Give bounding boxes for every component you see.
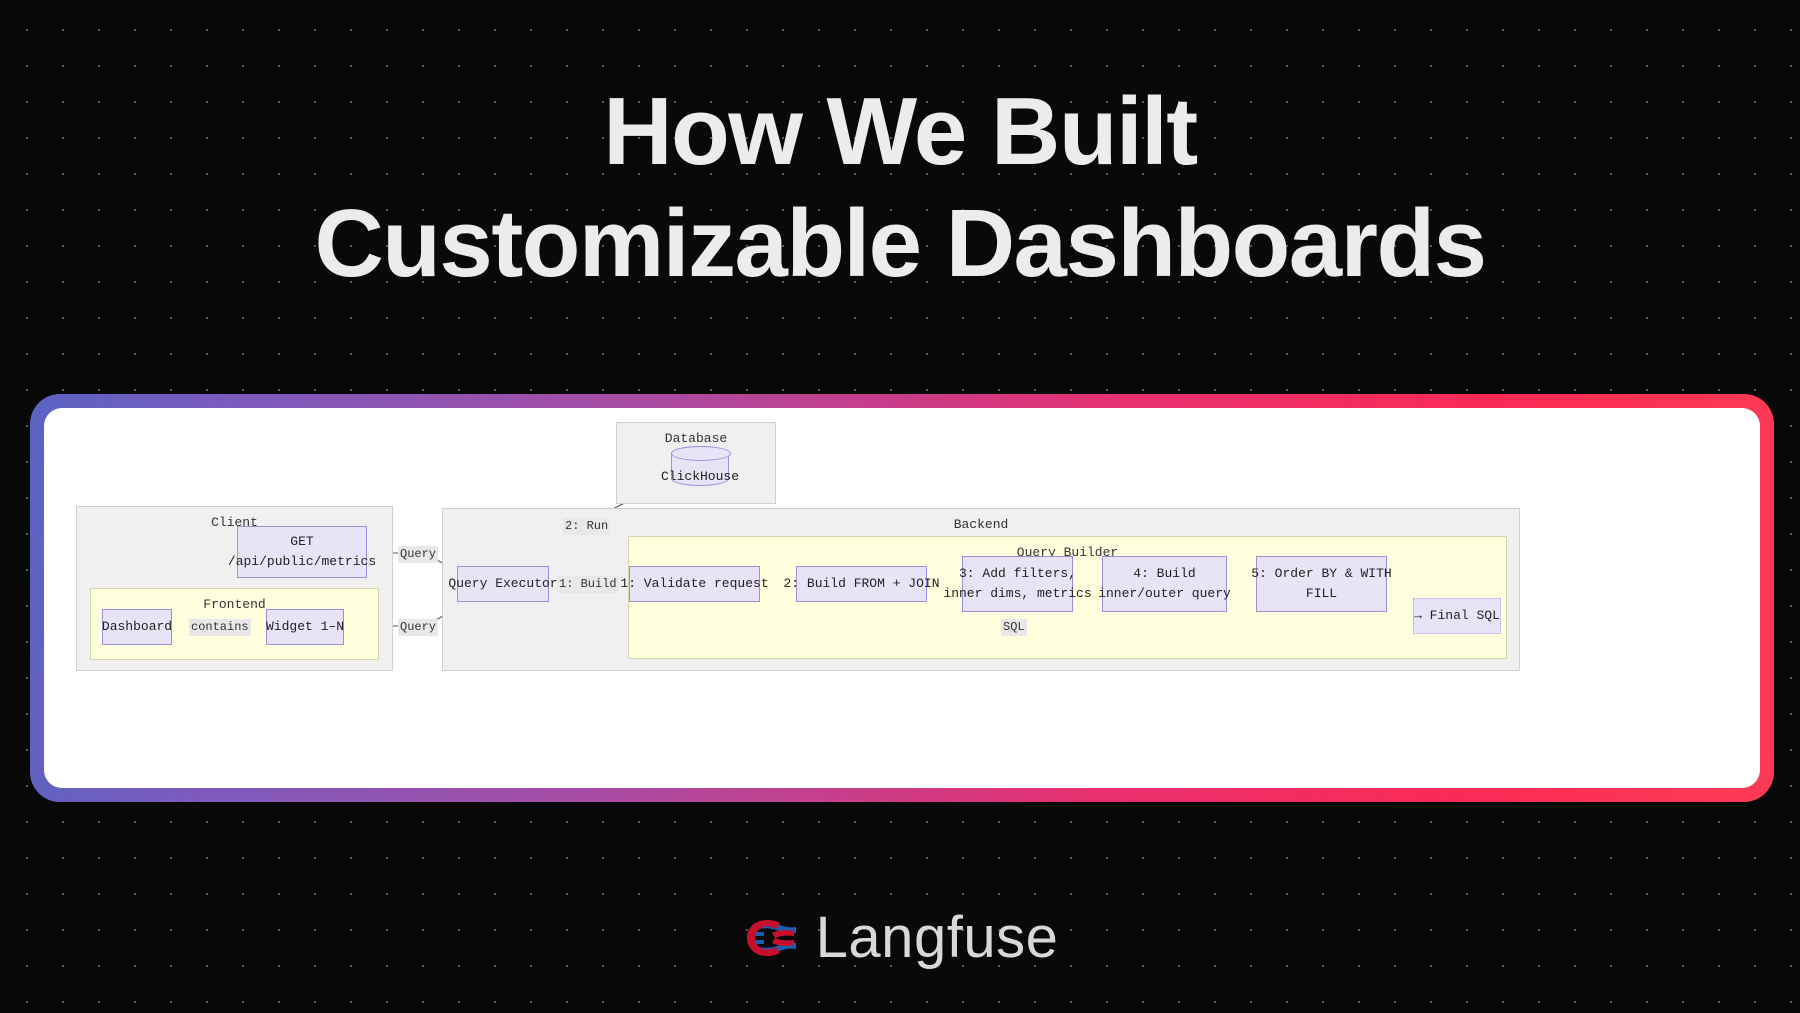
node-get-metrics-line-2: /api/public/metrics xyxy=(228,552,376,572)
node-get-metrics[interactable]: GET /api/public/metrics xyxy=(237,526,367,578)
node-step-4-line-1: 4: Build xyxy=(1133,564,1195,584)
diagram-card-gradient-frame: Client Frontend Database Backend Query B… xyxy=(30,394,1774,802)
node-get-metrics-line-1: GET xyxy=(290,532,313,552)
node-step-2-label: 2: Build FROM + JOIN xyxy=(783,574,939,594)
node-final-sql[interactable]: → Final SQL xyxy=(1413,598,1501,634)
node-step-2-build-from-join[interactable]: 2: Build FROM + JOIN xyxy=(796,566,927,602)
page-title-line-2: Customizable Dashboards xyxy=(0,188,1800,300)
node-step-5-order-by-with-fill[interactable]: 5: Order BY & WITH FILL xyxy=(1256,556,1387,612)
node-step-3-line-2: inner dims, metrics xyxy=(943,584,1091,604)
node-dashboard-label: Dashboard xyxy=(102,617,172,637)
page-title-line-1: How We Built xyxy=(0,76,1800,188)
edge-label-contains: contains xyxy=(189,619,251,636)
node-step-3-line-1: 3: Add filters, xyxy=(959,564,1076,584)
node-query-executor-label: Query Executor xyxy=(448,574,557,594)
page-title: How We Built Customizable Dashboards xyxy=(0,76,1800,300)
node-step-4-line-2: inner/outer query xyxy=(1098,584,1231,604)
footer-branding: Langfuse xyxy=(0,908,1800,968)
brand-name: Langfuse xyxy=(816,908,1059,968)
group-database-label: Database xyxy=(617,431,775,446)
diagram-card: Client Frontend Database Backend Query B… xyxy=(44,408,1760,788)
node-step-3-add-filters[interactable]: 3: Add filters, inner dims, metrics xyxy=(962,556,1073,612)
node-step-1-label: 1: Validate request xyxy=(620,574,768,594)
node-step-5-line-1: 5: Order BY & WITH xyxy=(1251,564,1391,584)
edge-label-run: 2: Run xyxy=(563,518,610,535)
node-step-4-build-inner-outer-query[interactable]: 4: Build inner/outer query xyxy=(1102,556,1227,612)
node-clickhouse-label: ClickHouse xyxy=(644,469,756,484)
node-dashboard[interactable]: Dashboard xyxy=(102,609,172,645)
architecture-diagram: Client Frontend Database Backend Query B… xyxy=(44,408,1760,788)
edge-label-sql: SQL xyxy=(1001,619,1027,636)
node-query-executor[interactable]: Query Executor xyxy=(457,566,549,602)
node-final-sql-label: → Final SQL xyxy=(1414,606,1500,626)
node-widget[interactable]: Widget 1–N xyxy=(266,609,344,645)
edge-label-build: 1: Build xyxy=(557,576,619,593)
edge-label-query-api: Query xyxy=(398,546,438,563)
node-widget-label: Widget 1–N xyxy=(266,617,344,637)
langfuse-logo-icon xyxy=(742,916,798,960)
node-step-5-line-2: FILL xyxy=(1306,584,1337,604)
edge-label-query-widget: Query xyxy=(398,619,438,636)
node-step-1-validate-request[interactable]: 1: Validate request xyxy=(629,566,760,602)
